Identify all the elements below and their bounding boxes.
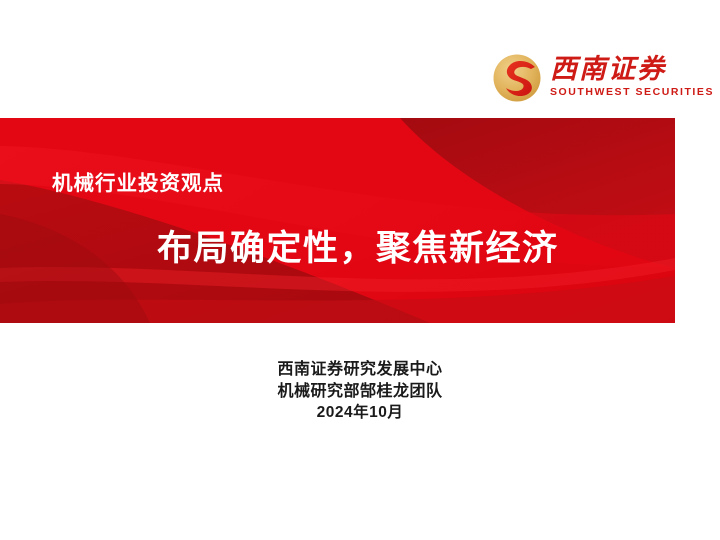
footer-institution: 西南证券研究发展中心 (0, 358, 720, 380)
title-slide: 西南证券 SOUTHWEST SECURITIES (0, 0, 720, 540)
footer-date: 2024年10月 (0, 402, 720, 424)
southwest-securities-swirl-mark-icon (492, 53, 542, 103)
footer-team: 机械研究部郜桂龙团队 (0, 380, 720, 402)
slide-footer: 西南证券研究发展中心 机械研究部郜桂龙团队 2024年10月 (0, 358, 720, 424)
company-logo: 西南证券 SOUTHWEST SECURITIES (492, 44, 692, 110)
logo-wordmark: 西南证券 SOUTHWEST SECURITIES (550, 56, 714, 99)
logo-company-name-en: SOUTHWEST SECURITIES (550, 86, 714, 99)
logo-company-name-cn: 西南证券 (550, 56, 714, 84)
banner-subtitle: 机械行业投资观点 (52, 166, 224, 196)
banner-main-title: 布局确定性，聚焦新经济 (157, 220, 559, 271)
